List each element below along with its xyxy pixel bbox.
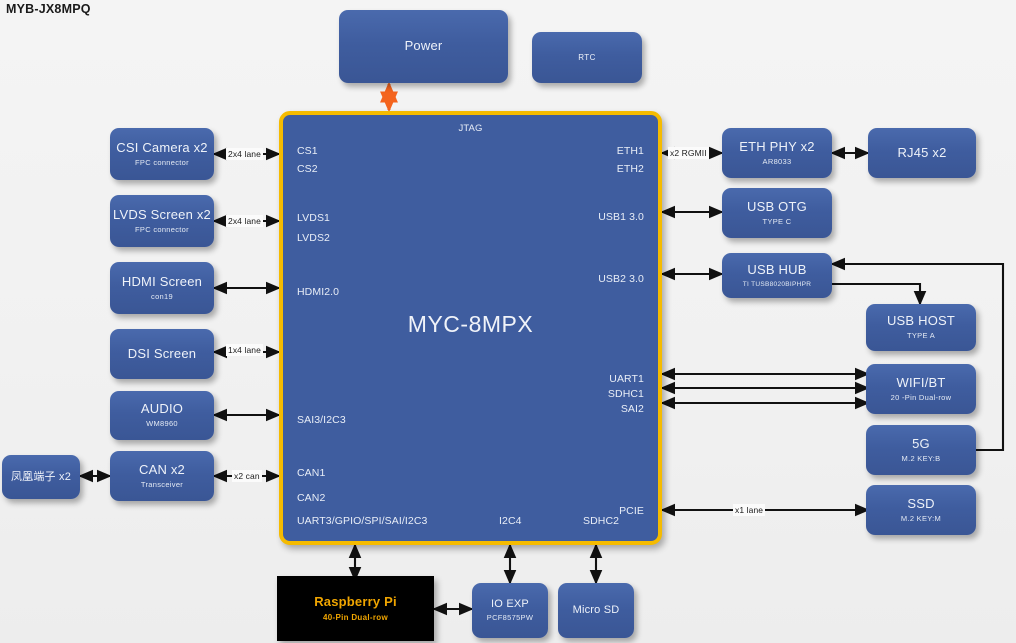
block-ssd-title: SSD xyxy=(907,497,934,512)
block-hdmi-screen[interactable]: HDMI Screen con19 xyxy=(110,262,214,314)
block-hdmi-screen-subtitle: con19 xyxy=(151,293,173,302)
soc-pin-can1: CAN1 xyxy=(297,467,325,479)
soc-pin-uart1: UART1 xyxy=(609,373,644,385)
block-power[interactable]: Power xyxy=(339,10,508,83)
block-csi-camera-title: CSI Camera x2 xyxy=(116,141,207,156)
soc-pin-sai3: SAI3/I2C3 xyxy=(297,414,346,426)
soc-pin-sdhc1: SDHC1 xyxy=(608,388,644,400)
label-lvds-lane: 2x4 lane xyxy=(226,215,263,227)
label-can-bus: x2 can xyxy=(232,470,262,482)
block-eth-phy[interactable]: ETH PHY x2 AR8033 xyxy=(722,128,832,178)
label-dsi-lane: 1x4 lane xyxy=(226,344,263,356)
block-dsi-screen[interactable]: DSI Screen xyxy=(110,329,214,379)
block-usb-otg-title: USB OTG xyxy=(747,200,807,215)
block-eth-phy-subtitle: AR8033 xyxy=(763,158,792,167)
block-io-exp-subtitle: PCF8575PW xyxy=(487,614,533,623)
soc-pin-cs2: CS2 xyxy=(297,163,318,175)
conn-hub-usbhost xyxy=(832,284,920,304)
block-can-title: CAN x2 xyxy=(139,463,185,478)
block-csi-camera-subtitle: FPC connector xyxy=(135,159,189,168)
block-ssd[interactable]: SSD M.2 KEY:M xyxy=(866,485,976,535)
block-usb-hub-title: USB HUB xyxy=(747,263,806,278)
soc-pin-eth1: ETH1 xyxy=(617,145,644,157)
soc-pin-eth2: ETH2 xyxy=(617,163,644,175)
soc-pin-uart3: UART3/GPIO/SPI/SAI/I2C3 xyxy=(297,515,427,527)
soc-pin-can2: CAN2 xyxy=(297,492,325,504)
block-io-exp[interactable]: IO EXP PCF8575PW xyxy=(472,583,548,638)
block-micro-sd-title: Micro SD xyxy=(573,604,620,617)
block-usb-otg[interactable]: USB OTG TYPE C xyxy=(722,188,832,238)
block-phoenix-terminal-title: 凤凰端子 x2 xyxy=(11,471,71,484)
block-usb-hub-subtitle: TI TUSB8020BIPHPR xyxy=(743,281,812,288)
soc-myc-8mpx[interactable]: JTAG CS1 CS2 LVDS1 LVDS2 HDMI2.0 SAI3/I2… xyxy=(279,111,662,545)
block-audio-subtitle: WM8960 xyxy=(146,420,178,429)
page-title: MYB-JX8MPQ xyxy=(6,2,91,16)
block-rtc[interactable]: RTC xyxy=(532,32,642,83)
block-lvds-screen[interactable]: LVDS Screen x2 FPC connector xyxy=(110,195,214,247)
block-raspberry-pi-title: Raspberry Pi xyxy=(314,595,397,610)
block-rtc-title: RTC xyxy=(578,53,596,62)
block-diagram-canvas: MYB-JX8MPQ xyxy=(0,0,1016,643)
conn-hub-5g-return xyxy=(832,264,1003,450)
soc-pin-jtag: JTAG xyxy=(283,123,658,134)
block-wifi-bt-title: WIFI/BT xyxy=(896,376,945,391)
soc-pin-usb1: USB1 3.0 xyxy=(598,211,644,223)
block-5g[interactable]: 5G M.2 KEY:B xyxy=(866,425,976,475)
block-rj45[interactable]: RJ45 x2 xyxy=(868,128,976,178)
soc-pin-usb2: USB2 3.0 xyxy=(598,273,644,285)
soc-pin-lvds2: LVDS2 xyxy=(297,232,330,244)
block-5g-title: 5G xyxy=(912,437,930,452)
block-dsi-screen-title: DSI Screen xyxy=(128,347,196,362)
soc-pin-pcie: PCIE xyxy=(619,505,644,517)
block-usb-host-subtitle: TYPE A xyxy=(907,332,935,341)
block-can[interactable]: CAN x2 Transceiver xyxy=(110,451,214,501)
block-5g-subtitle: M.2 KEY:B xyxy=(902,455,941,464)
block-usb-host-title: USB HOST xyxy=(887,314,955,329)
label-pcie-lane: x1 lane xyxy=(733,504,765,516)
block-io-exp-title: IO EXP xyxy=(491,598,529,611)
block-audio-title: AUDIO xyxy=(141,402,183,417)
block-lvds-screen-title: LVDS Screen x2 xyxy=(113,208,211,223)
block-micro-sd[interactable]: Micro SD xyxy=(558,583,634,638)
label-csi-lane: 2x4 lane xyxy=(226,148,263,160)
block-usb-host[interactable]: USB HOST TYPE A xyxy=(866,304,976,351)
block-wifi-bt-subtitle: 20 -Pin Dual-row xyxy=(891,394,952,403)
block-hdmi-screen-title: HDMI Screen xyxy=(122,275,202,290)
soc-pin-sai2: SAI2 xyxy=(621,403,644,415)
block-csi-camera[interactable]: CSI Camera x2 FPC connector xyxy=(110,128,214,180)
block-usb-hub[interactable]: USB HUB TI TUSB8020BIPHPR xyxy=(722,253,832,298)
block-phoenix-terminal[interactable]: 凤凰端子 x2 xyxy=(2,455,80,499)
soc-pin-lvds1: LVDS1 xyxy=(297,212,330,224)
block-audio[interactable]: AUDIO WM8960 xyxy=(110,391,214,440)
soc-pin-i2c4: I2C4 xyxy=(499,515,522,527)
block-can-subtitle: Transceiver xyxy=(141,481,183,490)
block-raspberry-pi-subtitle: 40-Pin Dual-row xyxy=(323,613,388,622)
block-raspberry-pi[interactable]: Raspberry Pi 40-Pin Dual-row xyxy=(277,576,434,641)
soc-name-label: MYC-8MPX xyxy=(283,311,658,338)
block-power-title: Power xyxy=(405,39,443,54)
soc-pin-sdhc2: SDHC2 xyxy=(583,515,619,527)
block-eth-phy-title: ETH PHY x2 xyxy=(739,140,814,155)
block-rj45-title: RJ45 x2 xyxy=(897,146,946,161)
block-wifi-bt[interactable]: WIFI/BT 20 -Pin Dual-row xyxy=(866,364,976,414)
soc-pin-cs1: CS1 xyxy=(297,145,318,157)
block-usb-otg-subtitle: TYPE C xyxy=(763,218,792,227)
block-lvds-screen-subtitle: FPC connector xyxy=(135,226,189,235)
block-ssd-subtitle: M.2 KEY:M xyxy=(901,515,941,524)
label-eth-rgmii: x2 RGMII xyxy=(668,147,709,159)
soc-pin-hdmi: HDMI2.0 xyxy=(297,286,339,298)
